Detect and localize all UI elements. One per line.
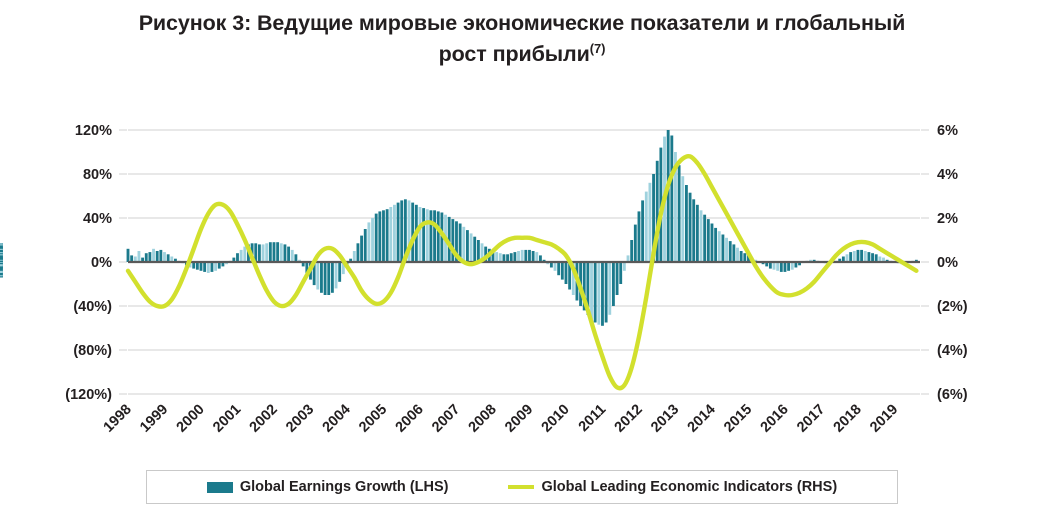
- bar: [433, 210, 436, 262]
- bar: [784, 262, 787, 272]
- bar: [601, 262, 604, 326]
- bar: [634, 225, 637, 262]
- bar: [451, 219, 454, 262]
- bar: [787, 262, 790, 271]
- y-axis-right-label: 2%: [937, 211, 958, 227]
- bar: [638, 211, 641, 262]
- bar: [273, 242, 276, 262]
- bar: [353, 251, 356, 262]
- bar: [696, 205, 699, 262]
- bar: [291, 250, 294, 262]
- bar: [240, 250, 243, 262]
- bar: [393, 205, 396, 262]
- chart-title-superscript: (7): [590, 41, 606, 56]
- chart-plot-area: 120%80%40%0%(40%)(80%)(120%)6%4%2%0%(2%)…: [0, 100, 1044, 470]
- bar: [605, 262, 608, 323]
- bar: [386, 209, 389, 262]
- x-axis-tick-label: 2004: [320, 402, 354, 436]
- bar: [875, 254, 878, 262]
- x-axis-tick-label: 2003: [283, 402, 317, 436]
- chart-title-line1: Рисунок 3: Ведущие мировые экономические…: [139, 11, 906, 35]
- x-axis-tick-label: 2013: [648, 402, 682, 436]
- bar: [466, 230, 469, 262]
- bar: [648, 183, 651, 262]
- y-axis-right-label: (6%): [937, 387, 968, 403]
- y-axis-left-label: 120%: [75, 123, 112, 139]
- bar: [729, 241, 732, 262]
- y-axis-right-label: (4%): [937, 343, 968, 359]
- bar: [316, 262, 319, 290]
- y-axis-left-label: 0%: [91, 255, 112, 271]
- bar: [138, 251, 141, 262]
- bar: [557, 262, 560, 275]
- bar: [284, 244, 287, 262]
- chart-figure: Рисунок 3: Ведущие мировые экономические…: [0, 0, 1044, 531]
- bar: [127, 249, 130, 262]
- bar: [506, 254, 509, 262]
- bar: [528, 250, 531, 262]
- bar: [692, 199, 695, 262]
- bar: [477, 240, 480, 262]
- page-title: Рисунок 3: Ведущие мировые экономические…: [0, 8, 1044, 70]
- bar: [269, 242, 272, 262]
- bar: [616, 262, 619, 295]
- bar: [846, 254, 849, 262]
- bar: [721, 235, 724, 263]
- bar: [619, 262, 622, 284]
- bar: [554, 262, 557, 271]
- bar: [382, 210, 385, 262]
- bar: [867, 252, 870, 262]
- bar: [327, 262, 330, 295]
- bar: [608, 262, 611, 315]
- chart-legend: Global Earnings Growth (LHS) Global Lead…: [146, 470, 898, 504]
- y-axis-right-label: (2%): [937, 299, 968, 315]
- bar: [510, 253, 513, 262]
- bar: [645, 192, 648, 262]
- x-axis-tick-label: 2007: [429, 402, 463, 436]
- bar: [594, 262, 597, 323]
- bar: [378, 211, 381, 262]
- bar: [864, 251, 867, 262]
- bar: [397, 203, 400, 262]
- bar: [211, 262, 214, 272]
- bar: [473, 237, 476, 262]
- bar: [422, 208, 425, 262]
- legend-line-swatch-icon: [508, 485, 534, 489]
- bar: [280, 243, 283, 262]
- bar: [871, 253, 874, 262]
- bar: [736, 248, 739, 262]
- bar: [371, 218, 374, 262]
- bar: [623, 262, 626, 271]
- bar: [703, 215, 706, 262]
- chart-svg: 120%80%40%0%(40%)(80%)(120%)6%4%2%0%(2%)…: [0, 100, 1044, 470]
- bar: [707, 219, 710, 262]
- bar: [437, 211, 440, 262]
- bar: [236, 253, 239, 262]
- bar: [503, 254, 506, 262]
- bar: [513, 252, 516, 262]
- bar: [849, 252, 852, 262]
- bar: [561, 262, 564, 280]
- x-axis-tick-label: 2017: [794, 402, 828, 436]
- bar: [590, 262, 593, 319]
- x-axis-tick-label: 2019: [867, 402, 901, 436]
- x-axis-tick-label: 2018: [831, 402, 865, 436]
- legend-label-earnings: Global Earnings Growth (LHS): [240, 479, 449, 495]
- bar: [857, 250, 860, 262]
- bar: [714, 228, 717, 262]
- bar-series: [0, 130, 918, 326]
- bar: [214, 262, 217, 271]
- bar: [780, 262, 783, 272]
- bar: [740, 251, 743, 262]
- x-axis-tick-label: 2009: [502, 402, 536, 436]
- bar: [743, 253, 746, 262]
- bar: [776, 262, 779, 271]
- y-axis-left-label: (40%): [73, 299, 112, 315]
- bar: [470, 233, 473, 262]
- bar: [243, 247, 246, 262]
- x-axis-tick-label: 2001: [210, 402, 244, 436]
- bar: [145, 253, 148, 262]
- chart-title-line2: рост прибыли: [439, 42, 590, 66]
- bar: [207, 262, 210, 273]
- bar: [612, 262, 615, 306]
- bar: [532, 251, 535, 262]
- bar: [670, 136, 673, 263]
- x-axis-tick-label: 2010: [539, 402, 573, 436]
- x-axis-tick-label: 2006: [393, 402, 427, 436]
- x-axis-tick-label: 2011: [576, 402, 610, 436]
- bar: [148, 252, 151, 262]
- bar: [411, 203, 414, 262]
- bar: [200, 262, 203, 271]
- bar: [335, 262, 338, 288]
- bar: [535, 252, 538, 262]
- line-series: [128, 156, 916, 388]
- bar: [364, 229, 367, 262]
- bar: [367, 222, 370, 262]
- bar: [430, 210, 433, 262]
- x-axis-tick-label: 2016: [758, 402, 792, 436]
- x-axis-tick-label: 2014: [685, 402, 719, 436]
- legend-item-indicators[interactable]: Global Leading Economic Indicators (RHS): [508, 479, 837, 495]
- bar: [357, 243, 360, 262]
- bar: [711, 224, 714, 263]
- bar: [262, 244, 265, 262]
- bar: [681, 176, 684, 262]
- x-axis-tick-label: 2002: [247, 402, 281, 436]
- x-axis-tick-label: 2012: [612, 402, 646, 436]
- x-axis-tick-label: 2000: [174, 402, 208, 436]
- bar: [276, 242, 279, 262]
- bar: [462, 227, 465, 262]
- bar: [426, 209, 429, 262]
- x-axis-tick-label: 2015: [721, 402, 755, 436]
- bar: [167, 254, 170, 262]
- y-axis-right-label: 4%: [937, 167, 958, 183]
- bar: [400, 200, 403, 262]
- bar: [630, 240, 633, 262]
- bar: [517, 251, 520, 262]
- bar: [0, 262, 3, 263]
- bar: [331, 262, 334, 293]
- bar: [0, 261, 3, 262]
- bar: [338, 262, 341, 282]
- bar: [196, 262, 199, 270]
- bar: [375, 214, 378, 262]
- x-axis-tick-label: 2008: [466, 402, 500, 436]
- legend-label-indicators: Global Leading Economic Indicators (RHS): [541, 479, 837, 495]
- bar: [685, 185, 688, 262]
- bar: [203, 262, 206, 272]
- bar: [689, 193, 692, 262]
- bar: [287, 247, 290, 262]
- bar: [860, 250, 863, 262]
- legend-item-earnings[interactable]: Global Earnings Growth (LHS): [207, 479, 449, 495]
- x-axis-tick-label: 2005: [356, 402, 390, 436]
- bar: [419, 207, 422, 262]
- y-axis-left-label: 40%: [83, 211, 112, 227]
- bar: [565, 262, 568, 284]
- bar: [597, 262, 600, 325]
- bar: [678, 165, 681, 262]
- bar: [152, 249, 155, 262]
- bar: [324, 262, 327, 295]
- y-axis-right-label: 0%: [937, 255, 958, 271]
- bar: [294, 254, 297, 262]
- y-axis-left-label: (80%): [73, 343, 112, 359]
- y-axis-left-label: 80%: [83, 167, 112, 183]
- bar: [791, 262, 794, 270]
- bar: [700, 210, 703, 262]
- bar: [499, 253, 502, 262]
- bar: [524, 250, 527, 262]
- bar: [360, 236, 363, 262]
- bar: [718, 231, 721, 262]
- y-axis-left-label: (120%): [65, 387, 112, 403]
- bar: [156, 251, 159, 262]
- y-axis-right-label: 6%: [937, 123, 958, 139]
- x-axis-tick-label: 1998: [101, 402, 135, 436]
- bar: [389, 207, 392, 262]
- bar: [320, 262, 323, 293]
- bar: [732, 244, 735, 262]
- bar: [725, 238, 728, 262]
- legend-bar-swatch-icon: [207, 482, 233, 493]
- bar: [159, 250, 162, 262]
- bar: [853, 251, 856, 262]
- bar: [641, 200, 644, 262]
- bar: [163, 252, 166, 262]
- bar: [773, 262, 776, 270]
- bar: [495, 252, 498, 262]
- bar: [521, 250, 524, 262]
- x-axis-tick-label: 1999: [137, 402, 171, 436]
- bar: [265, 243, 268, 262]
- bar: [258, 244, 261, 262]
